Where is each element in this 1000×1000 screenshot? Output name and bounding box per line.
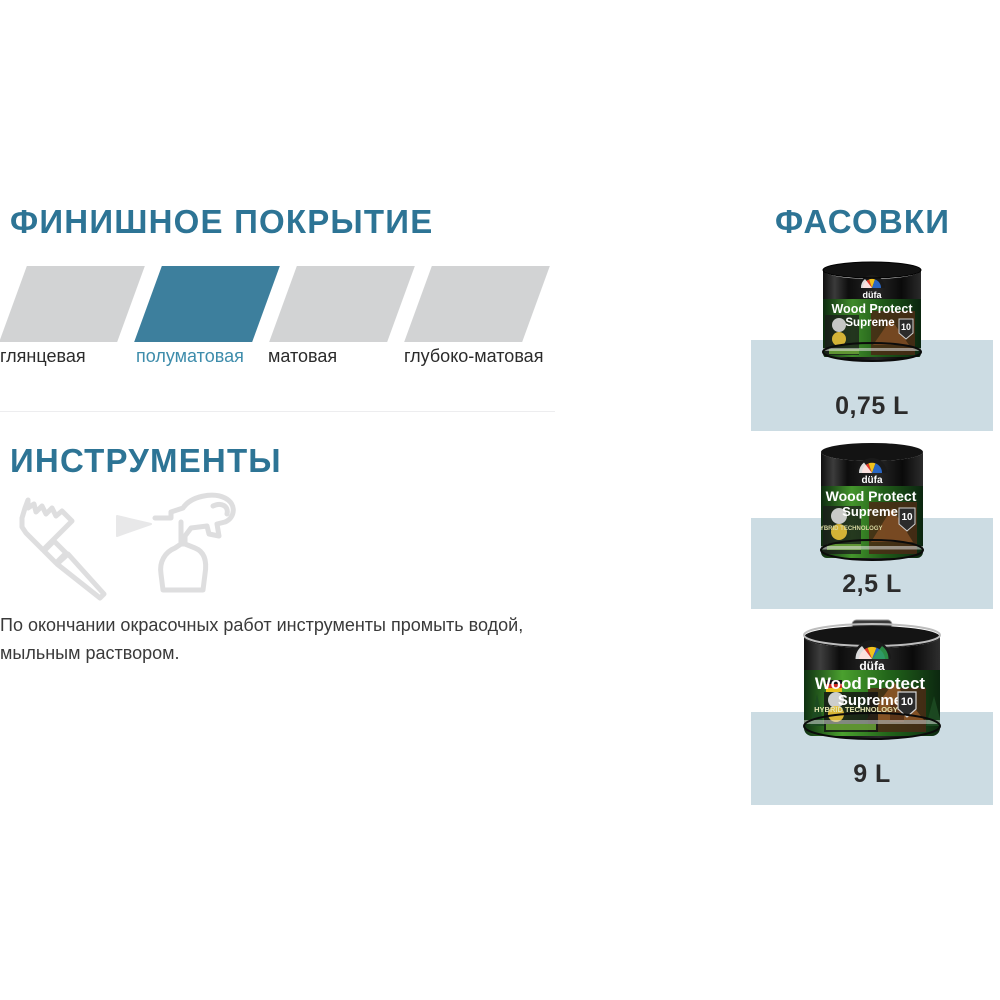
can-badge-tech-25l: HYBRID TECHNOLOGY xyxy=(815,526,882,532)
packaging-volume-075l: 0,75 L xyxy=(751,392,993,421)
product-can-075l[interactable]: düfa Wood Protect Supreme 10 xyxy=(813,253,931,371)
tool-icon-group xyxy=(8,492,268,602)
sheen-label-semi-matte[interactable]: полуматовая xyxy=(136,344,244,368)
tools-note-line-2: мыльным раствором. xyxy=(0,639,630,667)
sheen-label-glossy[interactable]: глянцевая xyxy=(0,344,86,368)
left-column: ФИНИШНОЕ ПОКРЫТИЕ глянцевая полуматовая … xyxy=(0,0,700,1000)
packaging-volume-9l: 9 L xyxy=(751,760,993,789)
product-can-9l[interactable]: düfa Wood Protect Supreme 10 HYBRID TECH… xyxy=(790,608,954,758)
tools-cleanup-note: По окончании окрасочных работ инструмент… xyxy=(0,611,630,667)
can-product-sub-25l: Supreme xyxy=(842,504,898,519)
packaging-section-heading: ФАСОВКИ xyxy=(775,205,950,238)
packaging-volume-25l: 2,5 L xyxy=(751,570,993,599)
can-brand-25l: düfa xyxy=(861,475,883,486)
sheen-swatch-group xyxy=(0,266,620,342)
sheen-swatch-matte[interactable] xyxy=(269,266,415,342)
can-product-name-25l: Wood Protect xyxy=(826,488,917,504)
sheen-label-matte[interactable]: матовая xyxy=(268,344,337,368)
can-badge-years-075l: 10 xyxy=(901,322,911,332)
sheen-swatch-glossy[interactable] xyxy=(0,266,145,342)
finish-section-heading: ФИНИШНОЕ ПОКРЫТИЕ xyxy=(10,205,433,238)
can-badge-years-25l: 10 xyxy=(901,512,913,523)
paint-brush-icon xyxy=(16,494,111,602)
can-brand-075l: düfa xyxy=(863,290,883,300)
can-brand-9l: düfa xyxy=(859,659,885,673)
section-divider xyxy=(0,411,555,412)
tools-section-heading: ИНСТРУМЕНТЫ xyxy=(10,444,282,477)
can-badge-years-9l: 10 xyxy=(901,696,913,708)
product-can-25l[interactable]: düfa Wood Protect Supreme 10 HYBRID TECH… xyxy=(809,430,935,570)
sheen-label-deep-matte[interactable]: глубоко-матовая xyxy=(404,344,543,368)
sheen-swatch-deep-matte[interactable] xyxy=(404,266,550,342)
tools-note-line-1: По окончании окрасочных работ инструмент… xyxy=(0,611,630,639)
sheen-swatch-semi-matte[interactable] xyxy=(134,266,280,342)
can-product-name-9l: Wood Protect xyxy=(815,674,926,693)
sheen-label-group: глянцевая полуматовая матовая глубоко-ма… xyxy=(0,344,640,370)
can-product-sub-075l: Supreme xyxy=(845,317,894,329)
can-product-name-075l: Wood Protect xyxy=(831,302,913,316)
packaging-column: ФАСОВКИ xyxy=(700,0,1000,1000)
spray-gun-icon xyxy=(113,492,263,600)
